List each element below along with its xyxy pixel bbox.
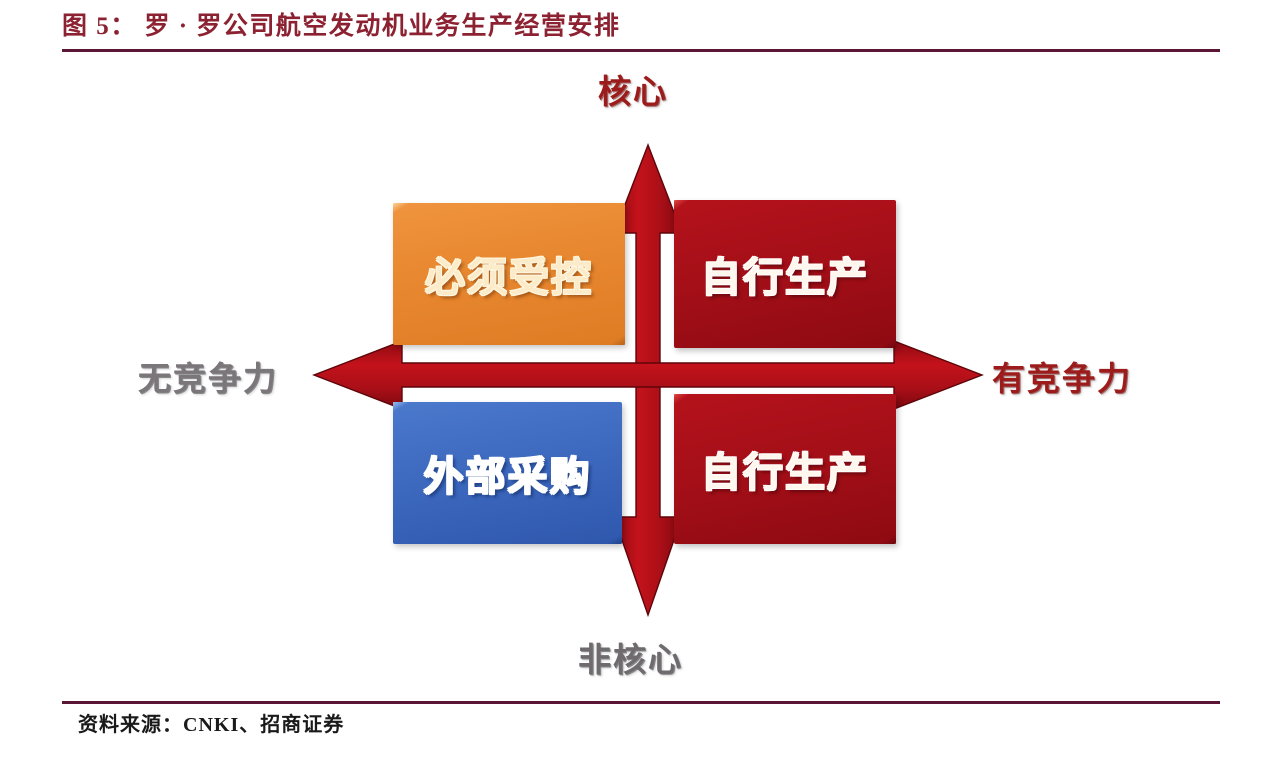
quadrant-box-top-right: 自行生产	[674, 200, 896, 348]
axis-label-non-core: 非核心	[578, 633, 683, 681]
quadrant-box-bottom-left: 外部采购	[393, 402, 622, 544]
page-title: 图 5： 罗 · 罗公司航空发动机业务生产经营安排	[62, 8, 1220, 46]
title-divider	[62, 49, 1220, 52]
axis-label-no-competitiveness: 无竞争力	[138, 352, 278, 400]
source-note: 资料来源：CNKI、招商证券	[78, 708, 344, 737]
quadrant-label-self-produce-bottom: 自行生产	[701, 440, 869, 498]
quadrant-label-external-purchase: 外部采购	[424, 444, 592, 502]
axis-label-has-competitiveness: 有竞争力	[992, 352, 1132, 400]
quadrant-box-top-left: 必须受控	[393, 203, 625, 345]
figure-container: 图 5： 罗 · 罗公司航空发动机业务生产经营安排	[0, 0, 1280, 760]
quadrant-diagram: 核心 非核心 无竞争力 有竞争力 必须受控 自行生产 外部采购 自行生产	[62, 55, 1220, 698]
quadrant-label-self-produce-top: 自行生产	[701, 245, 869, 303]
figure-title-bar: 图 5： 罗 · 罗公司航空发动机业务生产经营安排	[62, 8, 1220, 52]
axis-label-core: 核心	[598, 65, 668, 113]
footer-divider	[62, 701, 1220, 704]
quadrant-box-bottom-right: 自行生产	[674, 394, 896, 544]
quadrant-label-must-control: 必须受控	[425, 245, 593, 303]
